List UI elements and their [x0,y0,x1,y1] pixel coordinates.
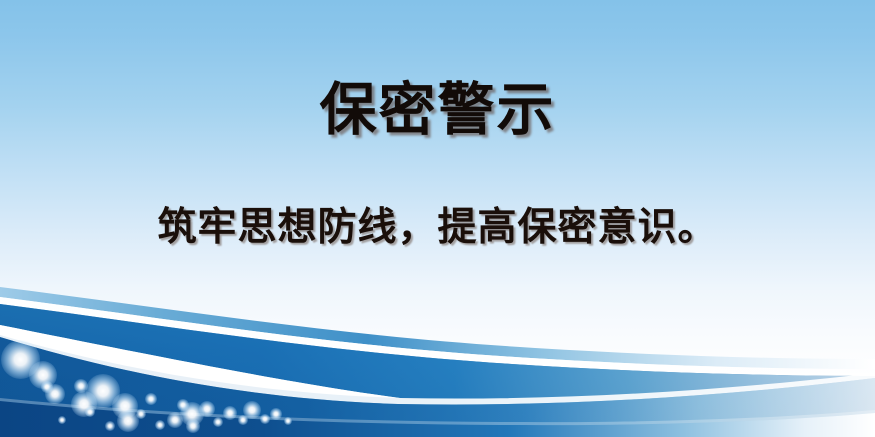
secrecy-warning-banner: 保密警示 筑牢思想防线，提高保密意识。 [0,0,875,437]
page-title: 保密警示 [0,82,875,139]
page-subtitle: 筑牢思想防线，提高保密意识。 [0,208,875,247]
text-content: 保密警示 筑牢思想防线，提高保密意识。 [0,0,875,437]
